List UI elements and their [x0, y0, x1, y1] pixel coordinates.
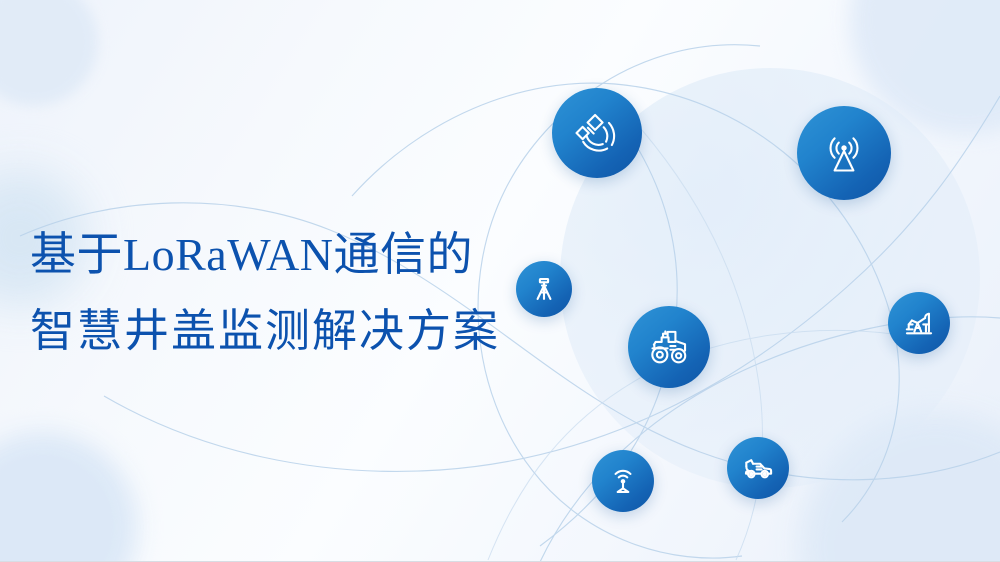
title-block: 基于LoRaWAN通信的 智慧井盖监测解决方案	[30, 228, 570, 358]
decor-blob-bottom-right	[800, 411, 1000, 562]
wireless-beacon-icon	[607, 465, 639, 497]
radio-tower-icon	[820, 129, 868, 177]
satellite-dish-signal-icon	[574, 110, 620, 156]
node-oil-pumpjack[interactable]	[888, 292, 950, 354]
harvester-vehicle-icon	[741, 451, 775, 485]
node-harvester[interactable]	[727, 437, 789, 499]
decor-blob-top-left	[0, 0, 98, 106]
title-line-primary: 基于LoRaWAN通信的	[30, 228, 570, 282]
decor-blob-bottom-left	[0, 432, 138, 562]
node-satellite[interactable]	[552, 88, 642, 178]
node-tractor[interactable]	[628, 306, 710, 388]
tractor-icon	[647, 325, 691, 369]
title-slide: 基于LoRaWAN通信的 智慧井盖监测解决方案	[0, 0, 1000, 562]
title-line-secondary: 智慧井盖监测解决方案	[30, 304, 570, 358]
node-radio-tower[interactable]	[797, 106, 891, 200]
node-wireless-beacon[interactable]	[592, 450, 654, 512]
oil-pumpjack-icon	[902, 306, 936, 340]
